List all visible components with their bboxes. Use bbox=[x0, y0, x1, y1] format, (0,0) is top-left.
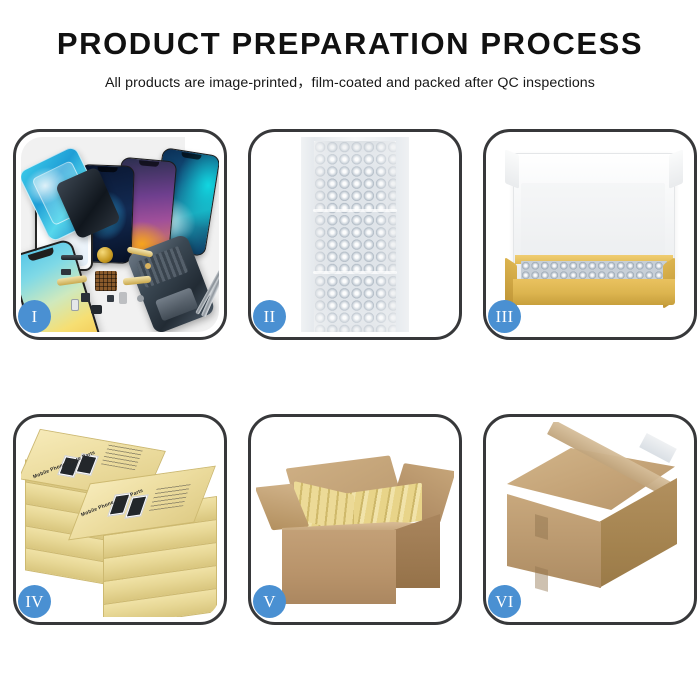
page-header: PRODUCT PREPARATION PROCESS All products… bbox=[0, 0, 700, 92]
step-badge-4: IV bbox=[18, 585, 51, 618]
process-step-panel-5[interactable]: V bbox=[248, 414, 462, 625]
process-step-panel-4[interactable]: Mobile Phone Spare Parts Mobile Phone Sp… bbox=[13, 414, 227, 625]
component-square-a bbox=[81, 293, 90, 302]
step-badge-6: VI bbox=[488, 585, 521, 618]
component-coil bbox=[97, 247, 113, 263]
component-connector bbox=[119, 292, 127, 304]
component-camera-ring bbox=[137, 295, 144, 302]
bubble-wrap-seam-lower bbox=[313, 271, 397, 274]
page-subtitle: All products are image-printed，film-coat… bbox=[0, 72, 700, 92]
panel-3-image bbox=[491, 137, 689, 332]
box-stack: Mobile Phone Spare Parts Mobile Phone Sp… bbox=[21, 432, 219, 617]
process-step-panel-3[interactable]: III bbox=[483, 129, 697, 340]
step-badge-2: II bbox=[253, 300, 286, 333]
component-speaker bbox=[91, 305, 102, 314]
process-step-panel-2[interactable]: II bbox=[248, 129, 462, 340]
panel-4-image: Mobile Phone Spare Parts Mobile Phone Sp… bbox=[21, 422, 219, 617]
component-sim-tray bbox=[71, 299, 79, 311]
sealed-carton-edge-seal-top bbox=[535, 514, 548, 540]
component-shield-can bbox=[61, 269, 71, 275]
panel-1-image bbox=[21, 137, 219, 332]
process-step-panel-1[interactable]: I bbox=[13, 129, 227, 340]
step-badge-1: I bbox=[18, 300, 51, 333]
component-square-b bbox=[107, 295, 114, 302]
panel-6-image bbox=[491, 422, 689, 617]
process-step-panel-6[interactable]: VI bbox=[483, 414, 697, 625]
process-step-grid: I II bbox=[13, 129, 687, 625]
step-badge-3: III bbox=[488, 300, 521, 333]
component-bar bbox=[61, 255, 83, 260]
bubble-wrap-highlight bbox=[314, 141, 396, 332]
panel-5-image bbox=[256, 422, 454, 617]
inner-box-tray-front bbox=[513, 279, 675, 305]
page-title: PRODUCT PREPARATION PROCESS bbox=[0, 28, 700, 61]
bubble-wrap-seam-upper bbox=[313, 209, 397, 212]
step-badge-5: V bbox=[253, 585, 286, 618]
component-screw bbox=[145, 263, 151, 269]
sealed-carton-edge-seal-bottom bbox=[535, 566, 548, 592]
component-chip bbox=[95, 271, 117, 291]
panel-2-image bbox=[256, 137, 454, 332]
carton-front-face bbox=[282, 530, 396, 604]
